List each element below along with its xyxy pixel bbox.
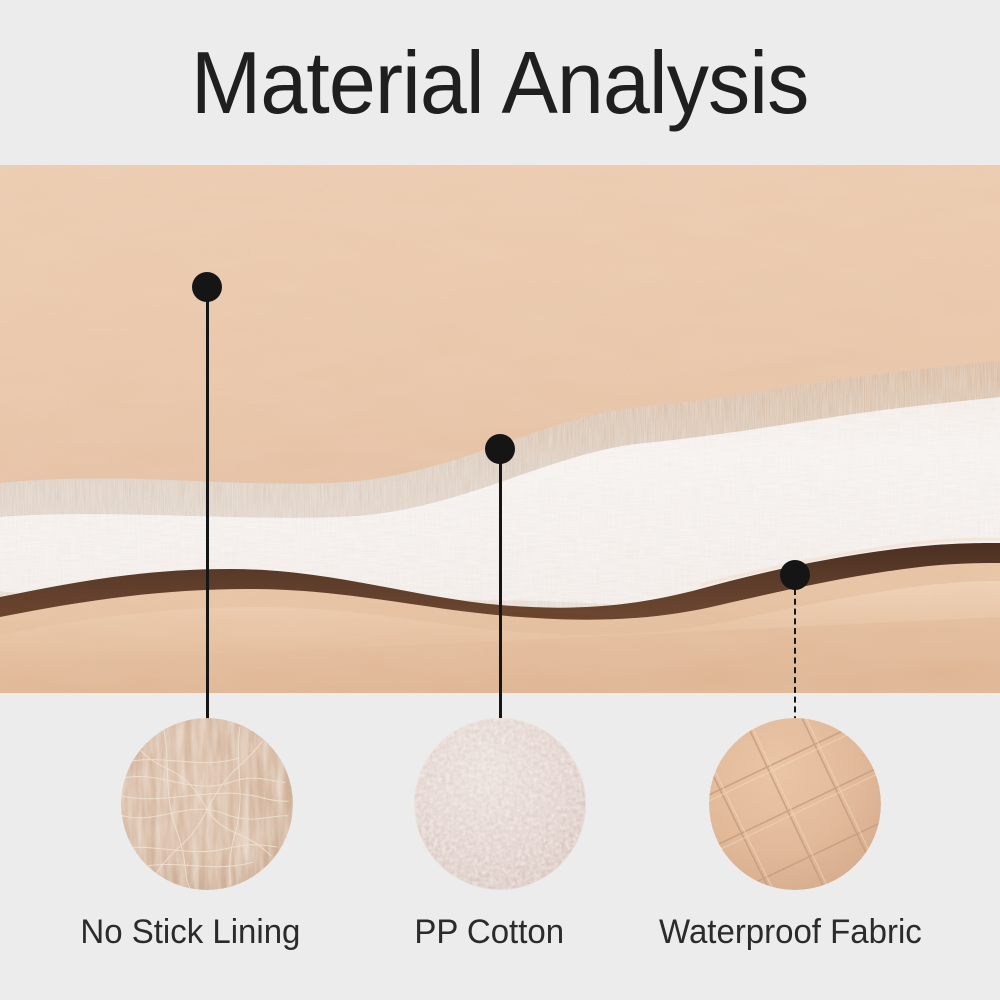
swatch-texture-fiber-strands <box>121 718 293 890</box>
swatch-pp-cotton[interactable] <box>414 718 586 890</box>
swatch-label-pp-cotton: PP Cotton <box>414 915 564 949</box>
page-title: Material Analysis <box>191 39 809 127</box>
callout-dot-waterproof-fabric[interactable] <box>780 560 810 590</box>
swatch-texture-fluffy-cotton <box>414 718 586 890</box>
callout-line-waterproof-fabric <box>794 589 796 732</box>
swatch-label-waterproof-fabric: Waterproof Fabric <box>659 915 922 949</box>
swatch-label-no-stick-lining: No Stick Lining <box>80 915 300 949</box>
callout-dot-no-stick-lining[interactable] <box>192 272 222 302</box>
swatch-waterproof-fabric[interactable] <box>709 718 881 890</box>
swatch-texture-quilted-grid <box>709 718 881 890</box>
swatch-no-stick-lining[interactable] <box>121 718 293 890</box>
callout-line-no-stick-lining <box>206 301 209 732</box>
callout-dot-pp-cotton[interactable] <box>485 434 515 464</box>
callout-line-pp-cotton <box>499 463 502 732</box>
title-bar: Material Analysis <box>0 0 1000 165</box>
